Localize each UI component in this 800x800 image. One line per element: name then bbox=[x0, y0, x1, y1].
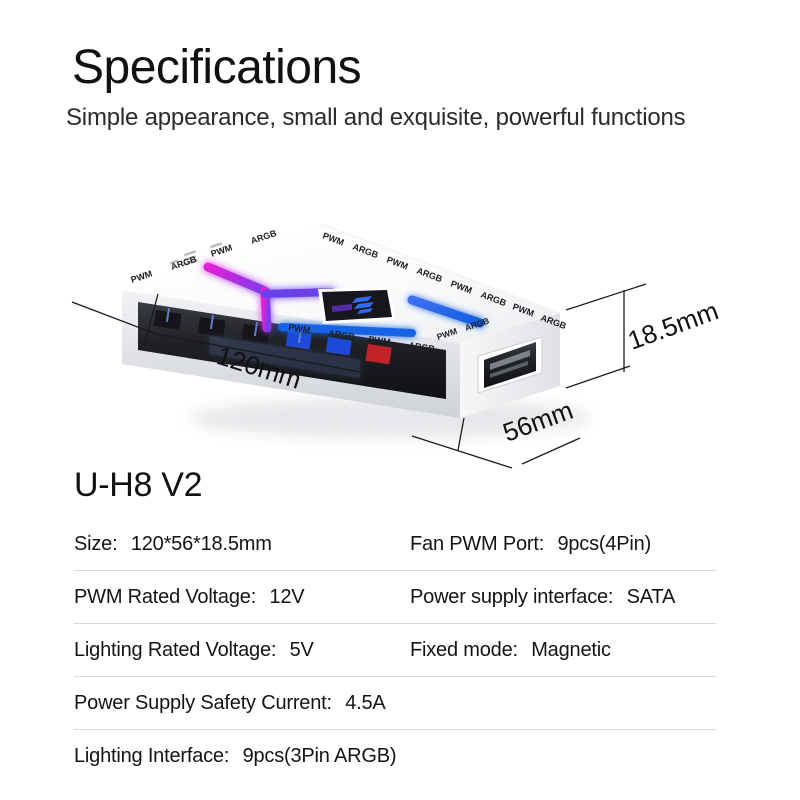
product-illustration: PWM ARGB PWM ARGB PWM ARGB PWM ARGB PWM … bbox=[60, 150, 760, 480]
table-row: Lighting Interface: 9pcs(3Pin ARGB) bbox=[74, 730, 716, 782]
specifications-page: Specifications Simple appearance, small … bbox=[0, 0, 800, 800]
spec-label: Size: bbox=[74, 533, 117, 555]
spec-value: 12V bbox=[269, 586, 304, 608]
table-row: Size: 120*56*18.5mm Fan PWM Port: 9pcs(4… bbox=[74, 518, 716, 571]
spec-label: Power Supply Safety Current: bbox=[74, 692, 332, 714]
table-row: Lighting Rated Voltage: 5V Fixed mode: M… bbox=[74, 624, 716, 677]
spec-value: 4.5A bbox=[345, 692, 385, 714]
spec-label: Lighting Interface: bbox=[74, 745, 229, 767]
spec-value: Magnetic bbox=[531, 639, 611, 661]
spec-cell-safety-current: Power Supply Safety Current: 4.5A bbox=[74, 692, 410, 715]
spec-value: 120*56*18.5mm bbox=[131, 533, 272, 555]
spec-table: Size: 120*56*18.5mm Fan PWM Port: 9pcs(4… bbox=[74, 518, 716, 782]
page-subtitle: Simple appearance, small and exquisite, … bbox=[66, 104, 685, 132]
table-row: PWM Rated Voltage: 12V Power supply inte… bbox=[74, 571, 716, 624]
model-name: U-H8 V2 bbox=[74, 466, 202, 505]
spec-cell-fixed-mode: Fixed mode: Magnetic bbox=[410, 639, 716, 662]
spec-value: 9pcs(3Pin ARGB) bbox=[243, 745, 397, 767]
spec-cell-size: Size: 120*56*18.5mm bbox=[74, 533, 410, 556]
spec-value: 9pcs(4Pin) bbox=[557, 533, 651, 555]
dimension-height-label: 18.5mm bbox=[624, 295, 723, 355]
spec-label: Power supply interface: bbox=[410, 586, 613, 608]
spec-cell-lighting-interface: Lighting Interface: 9pcs(3Pin ARGB) bbox=[74, 745, 410, 768]
spec-value: SATA bbox=[627, 586, 675, 608]
logo-badge bbox=[318, 287, 396, 324]
spec-label: PWM Rated Voltage: bbox=[74, 586, 256, 608]
spec-cell-fan-pwm-port: Fan PWM Port: 9pcs(4Pin) bbox=[410, 533, 716, 556]
spec-label: Fan PWM Port: bbox=[410, 533, 544, 555]
spec-cell-power-supply-interface: Power supply interface: SATA bbox=[410, 586, 716, 609]
page-title: Specifications bbox=[72, 44, 361, 92]
spec-label: Fixed mode: bbox=[410, 639, 518, 661]
spec-cell-lighting-rated-voltage: Lighting Rated Voltage: 5V bbox=[74, 639, 410, 662]
table-row: Power Supply Safety Current: 4.5A bbox=[74, 677, 716, 730]
spec-label: Lighting Rated Voltage: bbox=[74, 639, 276, 661]
spec-value: 5V bbox=[290, 639, 314, 661]
spec-cell-pwm-rated-voltage: PWM Rated Voltage: 12V bbox=[74, 586, 410, 609]
